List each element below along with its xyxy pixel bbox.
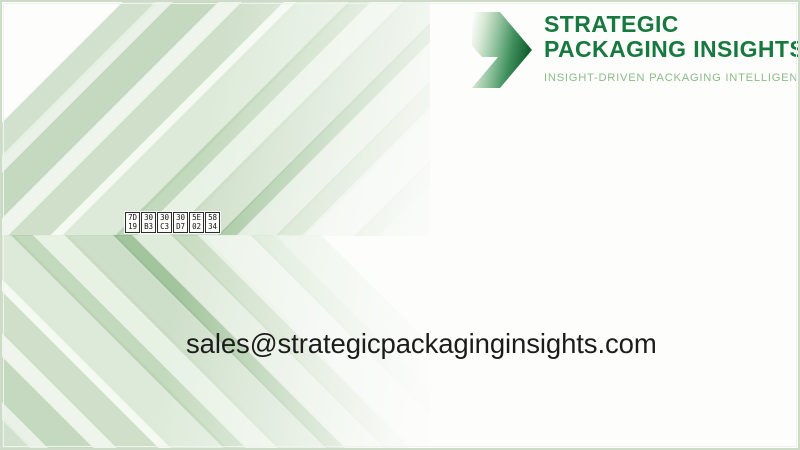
report-title-missing-glyphs: 7D1930B330C330D75E025834 (124, 211, 221, 234)
missing-glyph-box: 30D7 (173, 212, 188, 233)
glyph-hex-low: 02 (192, 223, 201, 232)
stripes-upper-arm (0, 0, 430, 236)
missing-glyph-box: 7D19 (125, 212, 140, 233)
glyph-hex-low: 19 (128, 223, 137, 232)
wordmark-line-2: PACKAGING INSIGHTS (544, 37, 800, 62)
glyph-hex-low: D7 (176, 223, 185, 232)
promo-slide: STRATEGIC PACKAGING INSIGHTS INSIGHT-DRI… (0, 0, 800, 450)
logo-tagline: INSIGHT-DRIVEN PACKAGING INTELLIGENCE (544, 71, 800, 85)
chevron-right-mark (470, 10, 534, 90)
glyph-hex-low: 34 (208, 223, 217, 232)
glyph-hex-low: B3 (144, 223, 153, 232)
missing-glyph-box: 30B3 (141, 212, 156, 233)
contact-email[interactable]: sales@strategicpackaginginsights.com (186, 328, 657, 360)
glyph-hex-low: C3 (160, 223, 169, 232)
missing-glyph-box: 5E02 (189, 212, 204, 233)
missing-glyph-box: 30C3 (157, 212, 172, 233)
brand-logo: STRATEGIC PACKAGING INSIGHTS INSIGHT-DRI… (470, 8, 786, 96)
logo-wordmark: STRATEGIC PACKAGING INSIGHTS INSIGHT-DRI… (544, 8, 800, 85)
missing-glyph-box: 5834 (205, 212, 220, 233)
wordmark-line-1: STRATEGIC (544, 12, 800, 37)
